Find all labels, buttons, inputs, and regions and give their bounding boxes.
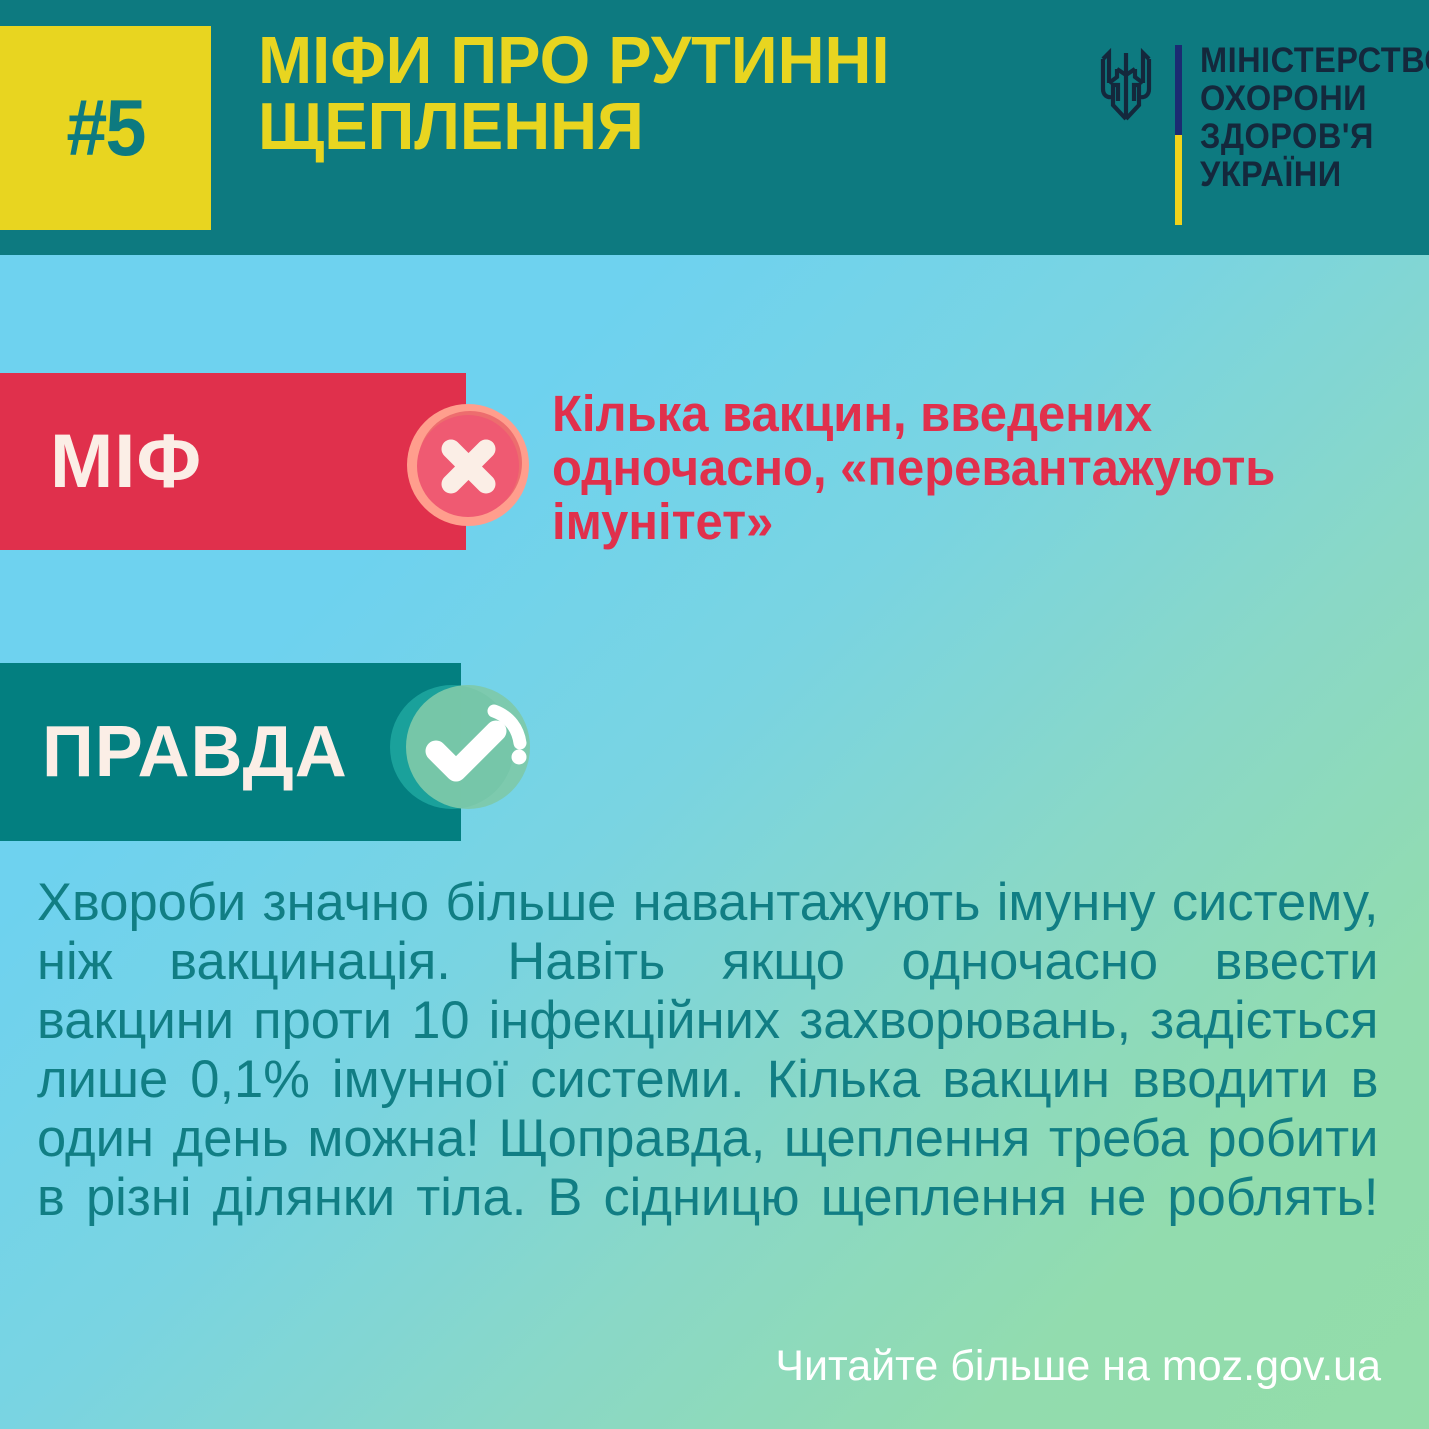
- truth-body-text: Хвороби значно більше навантажують імунн…: [37, 873, 1378, 1287]
- page-title: МІФИ ПРО РУТИННІ ЩЕПЛЕННЯ: [258, 28, 1044, 161]
- infographic-poster: #5 МІФИ ПРО РУТИННІ ЩЕПЛЕННЯ: [0, 0, 1429, 1429]
- page-title-line-1: МІФИ ПРО РУТИННІ: [258, 28, 1044, 94]
- logo-divider-bar: [1175, 45, 1182, 225]
- issue-number: #5: [66, 82, 144, 174]
- circle-x-icon: [406, 403, 530, 527]
- myth-badge: МІФ: [0, 373, 466, 550]
- ministry-name: МІНІСТЕРСТВО ОХОРОНИ ЗДОРОВ'Я УКРАЇНИ: [1200, 42, 1429, 195]
- ministry-logo: МІНІСТЕРСТВО ОХОРОНИ ЗДОРОВ'Я УКРАЇНИ: [1095, 42, 1429, 225]
- truth-badge-label: ПРАВДА: [42, 711, 348, 793]
- ukraine-trident-icon: [1095, 45, 1157, 129]
- issue-number-box: #5: [0, 26, 211, 230]
- myth-statement: Кілька вакцин, введених одночасно, «пере…: [552, 387, 1378, 549]
- ministry-name-line-1: МІНІСТЕРСТВО: [1200, 42, 1429, 80]
- header-bar: #5 МІФИ ПРО РУТИННІ ЩЕПЛЕННЯ: [0, 0, 1429, 255]
- page-title-line-2: ЩЕПЛЕННЯ: [258, 94, 1044, 160]
- ministry-name-line-4: УКРАЇНИ: [1200, 156, 1429, 194]
- myth-badge-label: МІФ: [50, 418, 202, 505]
- ministry-name-line-2: ОХОРОНИ: [1200, 80, 1429, 118]
- footer-readmore: Читайте більше на moz.gov.ua: [775, 1342, 1381, 1391]
- circle-check-icon: [388, 673, 536, 821]
- ministry-name-line-3: ЗДОРОВ'Я: [1200, 118, 1429, 156]
